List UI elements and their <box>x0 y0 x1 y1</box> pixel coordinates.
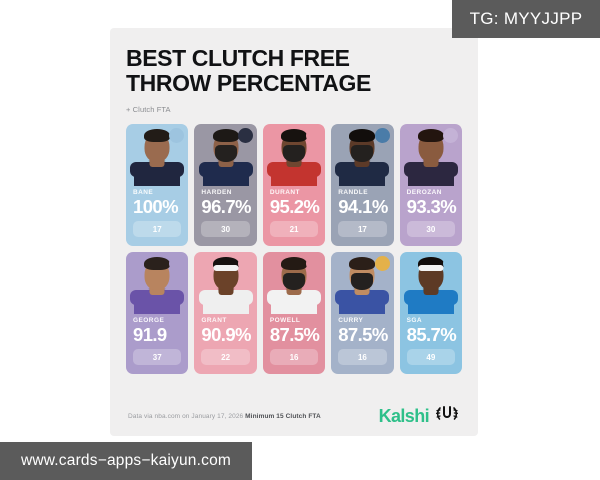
player-percentage: 96.7% <box>201 197 249 218</box>
footnote-source: Data via nba.com on January 17, 2026 <box>128 413 245 420</box>
player-card[interactable]: CURRY87.5%16 <box>331 252 393 374</box>
brand-name: Kalshi <box>379 406 429 427</box>
player-photo <box>194 124 256 186</box>
page-title: BEST CLUTCH FREE THROW PERCENTAGE <box>126 46 462 96</box>
player-percentage: 85.7% <box>407 325 455 346</box>
player-name: CURRY <box>338 317 386 324</box>
player-name: SGA <box>407 317 455 324</box>
player-meta: DEROZAN93.3% <box>400 186 462 218</box>
title-line-1: BEST CLUTCH FREE <box>126 46 462 71</box>
player-name: DEROZAN <box>407 189 455 196</box>
player-card[interactable]: GEORGE91.937 <box>126 252 188 374</box>
player-name: POWELL <box>270 317 318 324</box>
player-name: BANE <box>133 189 181 196</box>
player-photo <box>263 124 325 186</box>
player-name: GEORGE <box>133 317 181 324</box>
url-watermark-overlay: www.cards−apps−kaiyun.com <box>0 442 252 480</box>
team-logo-icon <box>238 256 253 271</box>
player-percentage: 90.9% <box>201 325 249 346</box>
player-meta: BANE100% <box>126 186 188 218</box>
player-card[interactable]: HARDEN96.7%30 <box>194 124 256 246</box>
player-attempts-badge: 49 <box>407 349 455 365</box>
brand-lockup: Kalshi <box>379 404 460 429</box>
player-percentage: 93.3% <box>407 197 455 218</box>
panel-content: BEST CLUTCH FREE THROW PERCENTAGE + Clut… <box>110 28 478 374</box>
player-meta: RANDLE94.1% <box>331 186 393 218</box>
player-card-row: BANE100%17HARDEN96.7%30DURANT95.2%21RAND… <box>126 124 462 246</box>
player-card[interactable]: DURANT95.2%21 <box>263 124 325 246</box>
player-photo <box>194 252 256 314</box>
player-card[interactable]: POWELL87.5%16 <box>263 252 325 374</box>
team-logo-icon <box>238 128 253 143</box>
player-attempts-badge: 30 <box>201 221 249 237</box>
player-card[interactable]: SGA85.7%49 <box>400 252 462 374</box>
player-attempts-badge: 16 <box>338 349 386 365</box>
subtitle: + Clutch FTA <box>126 105 462 114</box>
player-percentage: 87.5% <box>338 325 386 346</box>
team-logo-icon <box>169 128 184 143</box>
player-card-row: GEORGE91.937GRANT90.9%22POWELL87.5%16CUR… <box>126 252 462 374</box>
player-photo <box>126 252 188 314</box>
team-logo-icon <box>306 256 321 271</box>
player-name: GRANT <box>201 317 249 324</box>
player-attempts-badge: 21 <box>270 221 318 237</box>
player-attempts-badge: 17 <box>338 221 386 237</box>
title-line-2: THROW PERCENTAGE <box>126 71 462 96</box>
player-attempts-badge: 17 <box>133 221 181 237</box>
player-card[interactable]: RANDLE94.1%17 <box>331 124 393 246</box>
player-photo <box>263 252 325 314</box>
player-attempts-badge: 37 <box>133 349 181 365</box>
footnote-minimum: Minimum 15 Clutch FTA <box>245 413 321 420</box>
team-logo-icon <box>443 256 458 271</box>
panel-footer: Data via nba.com on January 17, 2026 Min… <box>110 396 478 436</box>
player-percentage: 91.9 <box>133 325 181 346</box>
player-name: HARDEN <box>201 189 249 196</box>
tg-watermark-overlay: TG: MYYJJPP <box>452 0 600 38</box>
player-meta: GEORGE91.9 <box>126 314 188 346</box>
team-logo-icon <box>306 128 321 143</box>
player-photo <box>331 124 393 186</box>
player-percentage: 100% <box>133 197 181 218</box>
player-meta: SGA85.7% <box>400 314 462 346</box>
player-meta: DURANT95.2% <box>263 186 325 218</box>
player-name: RANDLE <box>338 189 386 196</box>
player-card-grid: BANE100%17HARDEN96.7%30DURANT95.2%21RAND… <box>126 124 462 374</box>
player-percentage: 94.1% <box>338 197 386 218</box>
team-logo-icon <box>443 128 458 143</box>
player-card[interactable]: DEROZAN93.3%30 <box>400 124 462 246</box>
infographic-panel: BEST CLUTCH FREE THROW PERCENTAGE + Clut… <box>110 28 478 436</box>
player-card[interactable]: BANE100%17 <box>126 124 188 246</box>
player-meta: CURRY87.5% <box>331 314 393 346</box>
player-photo <box>331 252 393 314</box>
player-attempts-badge: 30 <box>407 221 455 237</box>
player-meta: GRANT90.9% <box>194 314 256 346</box>
player-name: DURANT <box>270 189 318 196</box>
player-percentage: 95.2% <box>270 197 318 218</box>
player-percentage: 87.5% <box>270 325 318 346</box>
player-photo <box>126 124 188 186</box>
laurel-u-emblem-icon <box>434 404 460 429</box>
player-meta: HARDEN96.7% <box>194 186 256 218</box>
team-logo-icon <box>375 256 390 271</box>
player-meta: POWELL87.5% <box>263 314 325 346</box>
footnote: Data via nba.com on January 17, 2026 Min… <box>128 413 321 420</box>
team-logo-icon <box>169 256 184 271</box>
team-logo-icon <box>375 128 390 143</box>
player-attempts-badge: 16 <box>270 349 318 365</box>
player-photo <box>400 252 462 314</box>
player-photo <box>400 124 462 186</box>
player-attempts-badge: 22 <box>201 349 249 365</box>
player-card[interactable]: GRANT90.9%22 <box>194 252 256 374</box>
